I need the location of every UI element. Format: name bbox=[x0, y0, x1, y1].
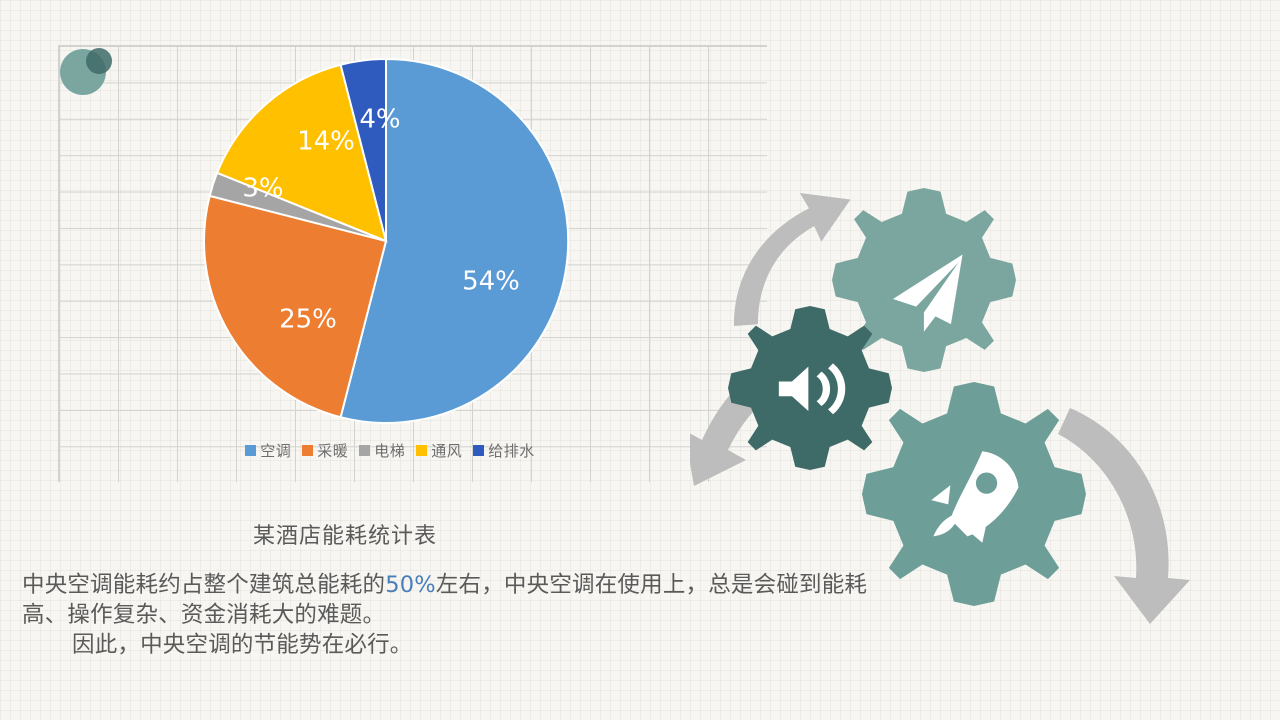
legend-item-jipaishui[interactable]: 给排水 bbox=[473, 440, 535, 461]
pie-label-jipaishui: 4% bbox=[359, 105, 400, 135]
legend-swatch-cainuan bbox=[302, 445, 313, 456]
legend-label-tongfeng: 通风 bbox=[431, 440, 462, 461]
paragraph1-highlight: 50% bbox=[385, 572, 436, 598]
legend-label-kongtiao: 空调 bbox=[260, 440, 291, 461]
pie-chart: 54% 25% 3% 14% 4% bbox=[195, 50, 585, 440]
legend-item-kongtiao[interactable]: 空调 bbox=[245, 440, 291, 461]
legend-label-cainuan: 采暖 bbox=[317, 440, 348, 461]
legend-item-cainuan[interactable]: 采暖 bbox=[302, 440, 348, 461]
pie-label-cainuan: 25% bbox=[279, 305, 337, 335]
arrow-curve-right-icon bbox=[1058, 408, 1190, 624]
legend-item-tongfeng[interactable]: 通风 bbox=[416, 440, 462, 461]
legend-swatch-jipaishui bbox=[473, 445, 484, 456]
gears-graphic bbox=[690, 170, 1280, 670]
legend-item-dianti[interactable]: 电梯 bbox=[359, 440, 405, 461]
arrow-up-right-icon bbox=[725, 190, 859, 326]
gear-rocket[interactable] bbox=[862, 382, 1086, 606]
legend-swatch-kongtiao bbox=[245, 445, 256, 456]
paragraph2: 因此，中央空调的节能势在必行。 bbox=[72, 632, 413, 658]
logo-small-circle bbox=[86, 48, 112, 74]
pie-label-tongfeng: 14% bbox=[297, 127, 355, 157]
chart-title: 某酒店能耗统计表 bbox=[253, 518, 437, 550]
logo bbox=[58, 45, 114, 97]
pie-label-kongtiao: 54% bbox=[462, 267, 520, 297]
paragraph1-part1: 中央空调能耗约占整个建筑总能耗的 bbox=[22, 572, 385, 598]
chart-legend: 空调 采暖 电梯 通风 给排水 bbox=[210, 440, 570, 461]
legend-label-jipaishui: 给排水 bbox=[488, 440, 535, 461]
slide-canvas: 54% 25% 3% 14% 4% 空调 采暖 电梯 通风 给排水 某酒店 bbox=[0, 0, 1280, 720]
legend-label-dianti: 电梯 bbox=[374, 440, 405, 461]
pie-label-dianti: 3% bbox=[242, 174, 283, 204]
legend-swatch-dianti bbox=[359, 445, 370, 456]
gear-speaker[interactable] bbox=[728, 306, 892, 470]
legend-swatch-tongfeng bbox=[416, 445, 427, 456]
